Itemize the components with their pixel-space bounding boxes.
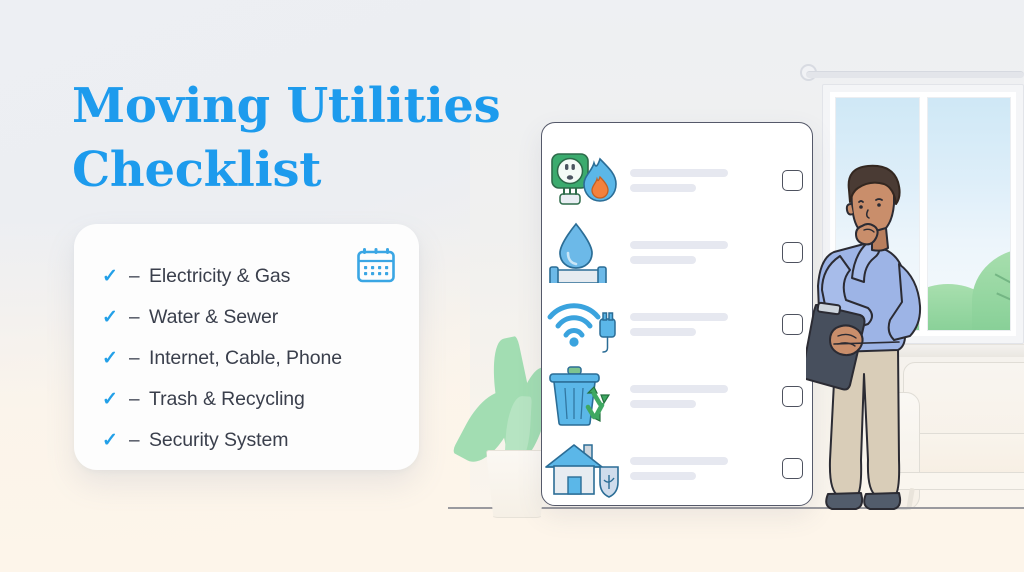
- person-with-clipboard: [806, 160, 928, 510]
- check-icon: ✓: [100, 390, 120, 409]
- page-title-line-2: Checklist: [72, 138, 502, 202]
- board-row-icons: [542, 437, 628, 499]
- checklist-items: ✓ – Electricity & Gas ✓ – Water & Sewer …: [100, 256, 399, 461]
- list-item-label: Electricity & Gas: [149, 265, 290, 288]
- check-icon: ✓: [100, 267, 120, 286]
- list-item-dash: –: [129, 266, 140, 288]
- board-row-icons: [542, 221, 628, 283]
- page-title-line-1: Moving Utilities: [72, 74, 502, 138]
- list-item-dash: –: [129, 430, 140, 452]
- list-item[interactable]: ✓ – Electricity & Gas: [100, 256, 399, 297]
- page-title: Moving Utilities Checklist: [72, 74, 502, 202]
- list-item[interactable]: ✓ – Security System: [100, 420, 399, 461]
- curtain-rod: [806, 71, 1024, 78]
- list-item[interactable]: ✓ – Water & Sewer: [100, 297, 399, 338]
- board-row[interactable]: [542, 293, 814, 355]
- list-item-dash: –: [129, 307, 140, 329]
- board-row-icons: [542, 365, 628, 427]
- plant-pot: [486, 450, 548, 518]
- board-row-text-lines: [628, 457, 770, 480]
- board-row-text-lines: [628, 169, 770, 192]
- board-row[interactable]: [542, 437, 814, 499]
- list-item-label: Security System: [149, 429, 288, 452]
- board-row-text-lines: [628, 241, 770, 264]
- check-icon: ✓: [100, 349, 120, 368]
- list-item-label: Trash & Recycling: [149, 388, 305, 411]
- board-row-text-lines: [628, 385, 770, 408]
- list-item[interactable]: ✓ – Trash & Recycling: [100, 379, 399, 420]
- board-row[interactable]: [542, 149, 814, 211]
- check-icon: ✓: [100, 431, 120, 450]
- board-row[interactable]: [542, 365, 814, 427]
- list-item-dash: –: [129, 389, 140, 411]
- illustration-stage: Moving Utilities Checklist: [0, 0, 1024, 572]
- board-row-text-lines: [628, 313, 770, 336]
- check-icon: ✓: [100, 308, 120, 327]
- board-row[interactable]: [542, 221, 814, 283]
- checklist-card: ✓ – Electricity & Gas ✓ – Water & Sewer …: [74, 224, 419, 470]
- list-item[interactable]: ✓ – Internet, Cable, Phone: [100, 338, 399, 379]
- board-row-icons: [542, 149, 628, 211]
- board-row-icons: [542, 293, 628, 355]
- list-item-label: Internet, Cable, Phone: [149, 347, 342, 370]
- list-item-dash: –: [129, 348, 140, 370]
- window-pane-right: [927, 97, 1012, 331]
- utilities-checklist-board[interactable]: [541, 122, 813, 506]
- bush-icon: [972, 248, 1012, 331]
- list-item-label: Water & Sewer: [149, 306, 278, 329]
